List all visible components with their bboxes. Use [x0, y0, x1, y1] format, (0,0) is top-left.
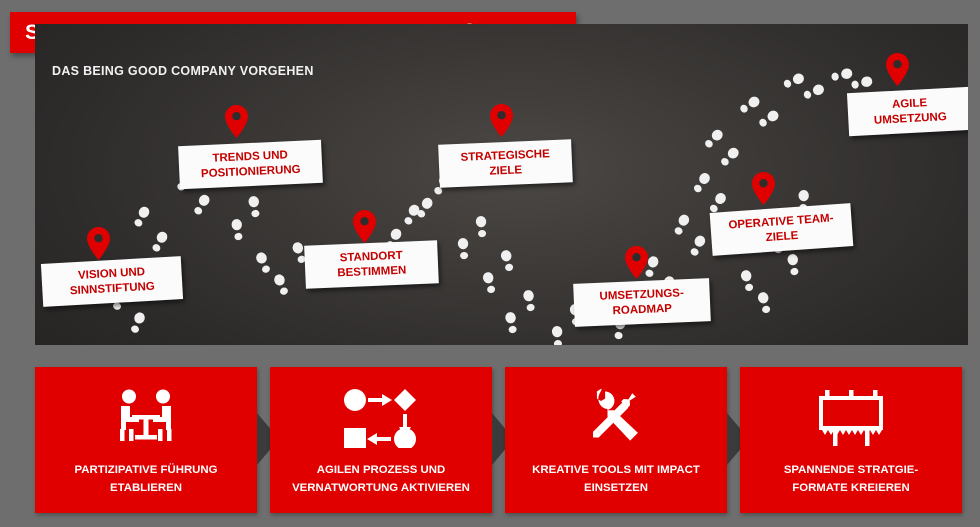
panel-subtitle: DAS BEING GOOD COMPANY VORGEHEN	[52, 64, 314, 78]
map-pin-standort	[353, 210, 376, 243]
footprint-icon	[690, 170, 713, 196]
footprint-icon	[737, 93, 763, 116]
footprint-icon	[550, 326, 565, 345]
map-pin-vision	[87, 227, 110, 260]
step-card-4-label: SPANNENDE STRATGIE- FORMATE KREIEREN	[778, 461, 924, 498]
meeting-table-icon	[108, 387, 184, 449]
footprint-icon	[521, 289, 538, 313]
footprint-icon	[671, 212, 692, 237]
footprint-icon	[247, 195, 263, 219]
step-card-1-label: PARTIZIPATIVE FÜHRUNG ETABLIEREN	[68, 461, 223, 498]
map-pin-roadmap	[625, 246, 648, 279]
map-pin-agile-umsetzung	[886, 53, 909, 86]
step-card-1[interactable]: PARTIZIPATIVE FÜHRUNG ETABLIEREN	[35, 367, 257, 513]
footprint-icon	[190, 192, 212, 218]
footprint-icon	[499, 249, 517, 273]
journey-panel: DAS BEING GOOD COMPANY VORGEHEN VISION U…	[35, 24, 968, 345]
step-cards: PARTIZIPATIVE FÜHRUNG ETABLIEREN AGILEN …	[35, 367, 945, 513]
footprint-icon	[503, 311, 520, 335]
flowchart-icon	[343, 387, 419, 449]
billboard-icon	[815, 387, 887, 449]
footprint-icon	[701, 127, 726, 152]
wrench-screwdriver-icon	[580, 387, 652, 449]
footprint-icon	[739, 269, 757, 293]
milestone-label-agile-umsetzung: AGILE UMSETZUNG	[847, 87, 968, 137]
footprint-icon	[687, 233, 708, 258]
step-card-2-label: AGILEN PROZESS UND VERNATWORTUNG AKTIVIE…	[286, 461, 476, 498]
footprint-icon	[149, 229, 171, 255]
footprint-icon	[456, 237, 471, 260]
map-pin-trends	[225, 105, 248, 138]
footprint-icon	[253, 250, 273, 275]
milestone-label-team-ziele: OPERATIVE TEAM- ZIELE	[710, 203, 854, 256]
milestone-label-roadmap: UMSETZUNGS- ROADMAP	[573, 278, 711, 327]
footprint-icon	[756, 107, 782, 130]
milestone-label-standort: STANDORT BESTIMMEN	[304, 240, 439, 289]
milestone-label-trends: TRENDS UND POSITIONIERUNG	[178, 140, 323, 190]
step-card-3-label: KREATIVE TOOLS MIT IMPACT EINSETZEN	[526, 461, 706, 498]
map-pin-team-ziele	[752, 172, 775, 205]
footprint-icon	[127, 310, 147, 335]
footprint-icon	[717, 145, 742, 170]
footprint-icon	[230, 218, 246, 242]
footprint-icon	[801, 82, 826, 103]
step-card-3[interactable]: KREATIVE TOOLS MIT IMPACT EINSETZEN	[505, 367, 727, 513]
infographic-root: STRATEGIEN GEMEINSAM AUF DIE STRAßE BRIN…	[0, 0, 980, 527]
footprint-icon	[271, 272, 291, 297]
footprint-icon	[474, 215, 489, 238]
step-card-4[interactable]: SPANNENDE STRATGIE- FORMATE KREIEREN	[740, 367, 962, 513]
milestone-label-vision: VISION UND SINNSTIFTUNG	[41, 256, 183, 307]
footprint-icon	[781, 71, 806, 92]
footprint-icon	[131, 204, 153, 230]
footprint-icon	[756, 291, 774, 315]
footprint-icon	[786, 253, 802, 277]
map-pin-strategische-ziele	[490, 104, 513, 137]
step-card-2[interactable]: AGILEN PROZESS UND VERNATWORTUNG AKTIVIE…	[270, 367, 492, 513]
milestone-label-strategische-ziele: STRATEGISCHE ZIELE	[438, 139, 573, 188]
footprint-icon	[481, 271, 499, 295]
